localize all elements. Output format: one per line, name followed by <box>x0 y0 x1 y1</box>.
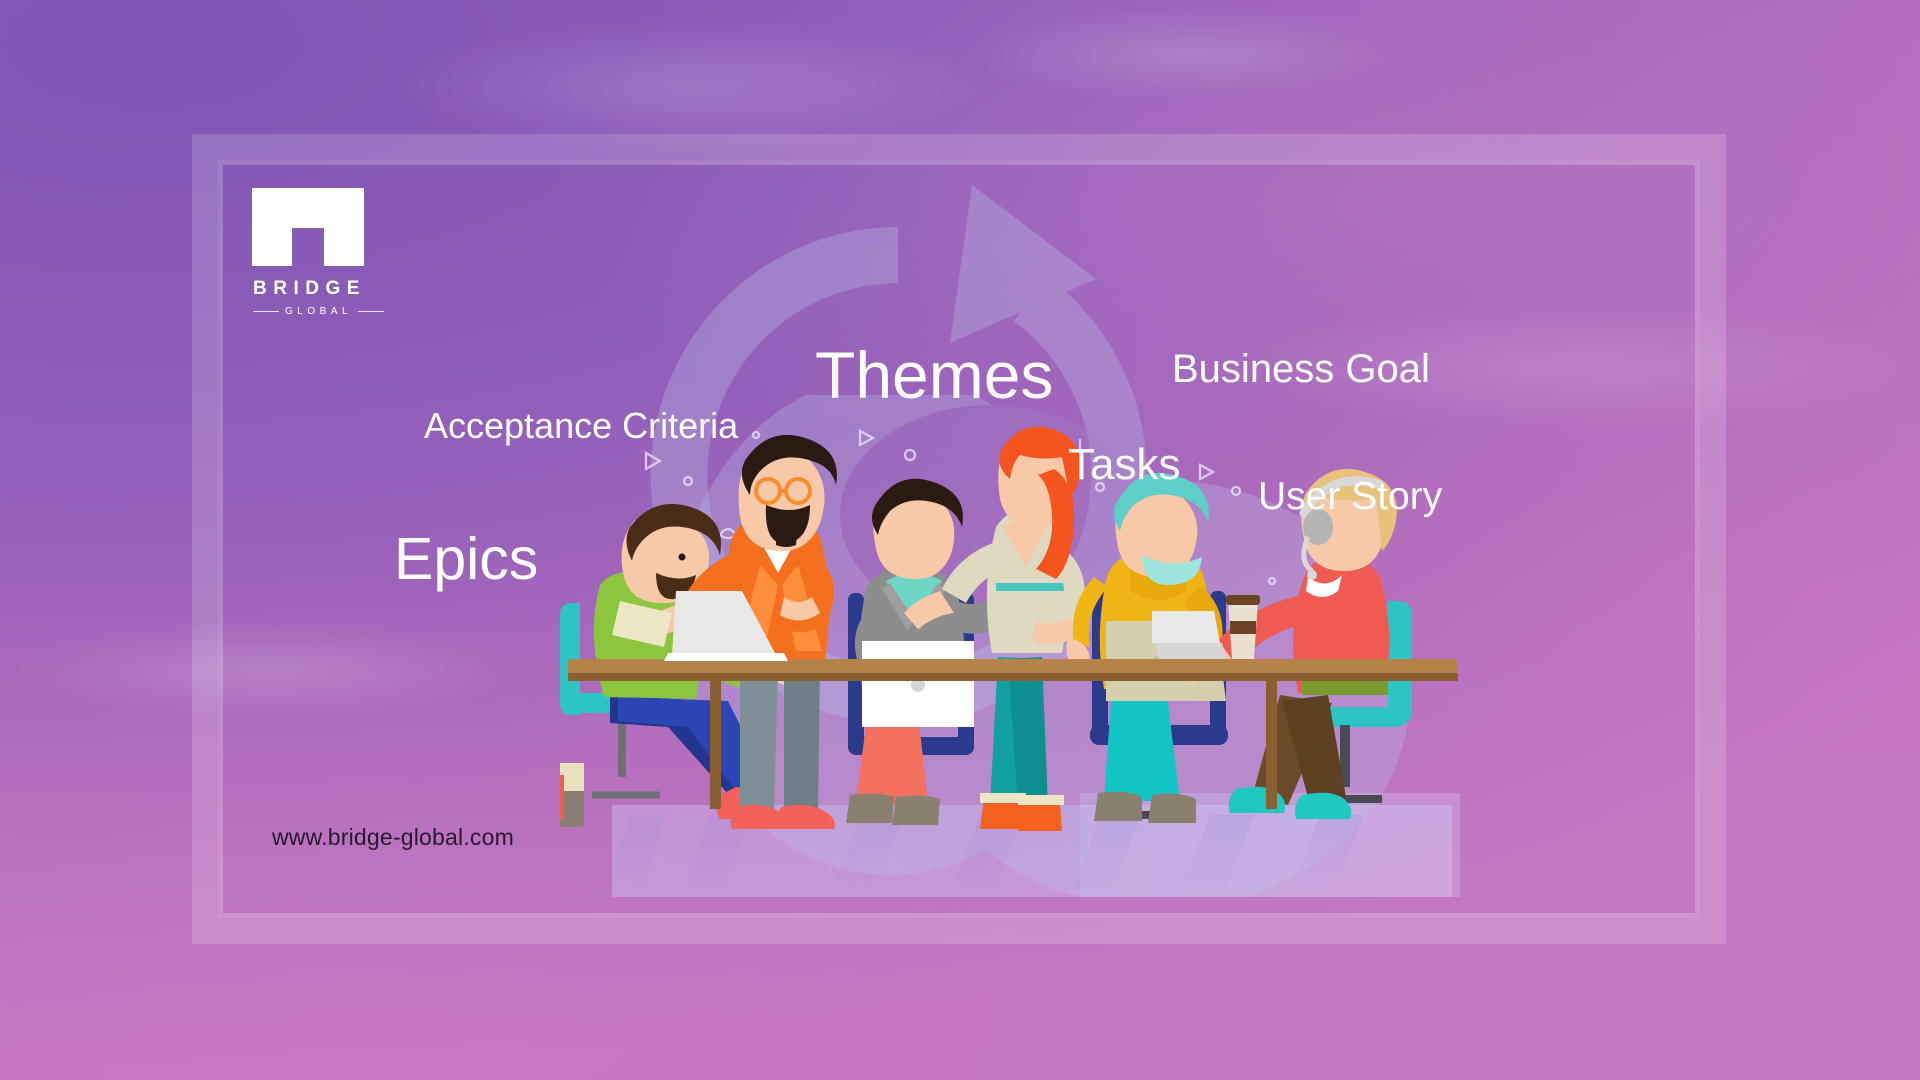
label-acceptance-criteria: Acceptance Criteria <box>424 405 738 447</box>
label-user-story: User Story <box>1258 475 1442 519</box>
label-business-goal: Business Goal <box>1172 347 1430 392</box>
brand-tagline-row: GLOBAL <box>253 306 370 317</box>
label-tasks: Tasks <box>1068 440 1180 490</box>
poster-canvas: BRIDGE GLOBAL <box>0 0 1920 1080</box>
label-themes: Themes <box>815 337 1053 413</box>
website-url[interactable]: www.bridge-global.com <box>272 824 514 851</box>
brand-tagline: GLOBAL <box>285 306 352 317</box>
bridge-arch-mark-icon <box>252 188 364 266</box>
brand-logo[interactable]: BRIDGE GLOBAL <box>252 188 370 317</box>
briefcase <box>560 745 584 827</box>
brand-name: BRIDGE <box>253 278 370 300</box>
tagline-rule-left <box>253 311 279 313</box>
label-epics: Epics <box>394 525 538 593</box>
team-meeting-illustration <box>560 395 1460 895</box>
tagline-rule-right <box>358 311 384 313</box>
